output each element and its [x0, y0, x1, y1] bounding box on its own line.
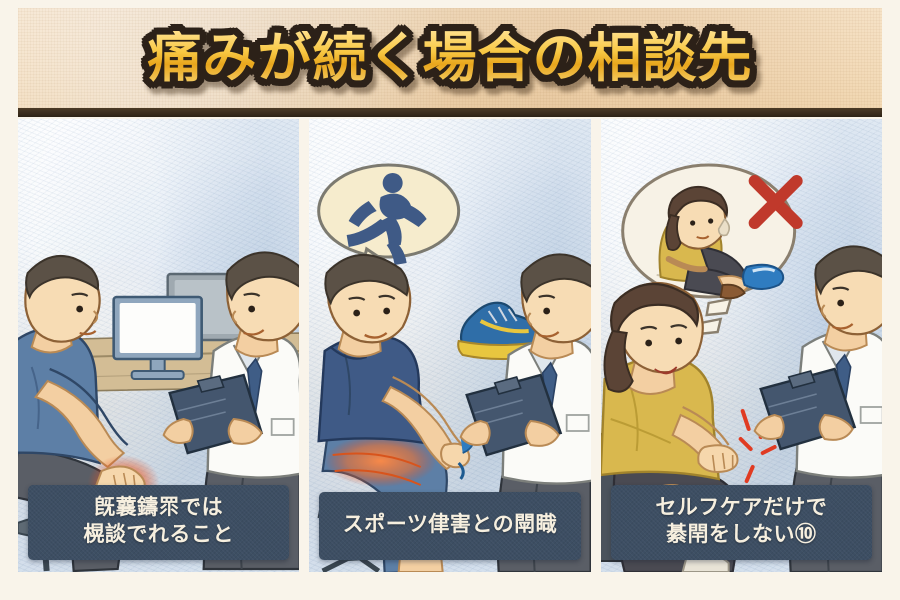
caption-line-1: スポーツ侓害との閛睵 [325, 512, 574, 539]
panel-caption: スポーツ侓害との閛睵 [319, 492, 580, 560]
panel-consultation: 旣蘘鑄眔では 榥談でれること [18, 119, 299, 572]
page-title: 痛みが続く場合の相談先 [18, 31, 882, 85]
bubble-tail-1 [706, 299, 730, 315]
panel-row: 旣蘘鑄眔では 榥談でれること [18, 119, 882, 572]
panel-caption: 旣蘘鑄眔では 榥談でれること [28, 485, 289, 560]
header-divider [18, 108, 882, 117]
ice-pack-icon [743, 265, 783, 289]
caption-line-2: 榥談でれること [34, 522, 283, 549]
caption-line-1: セルフケアだけで [617, 495, 866, 522]
header-band: 痛みが続く場合の相談先 [18, 8, 882, 108]
panel-selfcare: セルフケアだけで 綦閈をしない⑩ [601, 119, 882, 572]
panel-caption: セルフケアだけで 綦閈をしない⑩ [611, 485, 872, 560]
caption-line-2: 綦閈をしない⑩ [617, 522, 866, 549]
infographic-poster: 痛みが続く場合の相談先 [0, 0, 900, 600]
panel-sports: スポーツ侓害との閛睵 [309, 119, 590, 572]
caption-line-1: 旣蘘鑄眔では [34, 495, 283, 522]
